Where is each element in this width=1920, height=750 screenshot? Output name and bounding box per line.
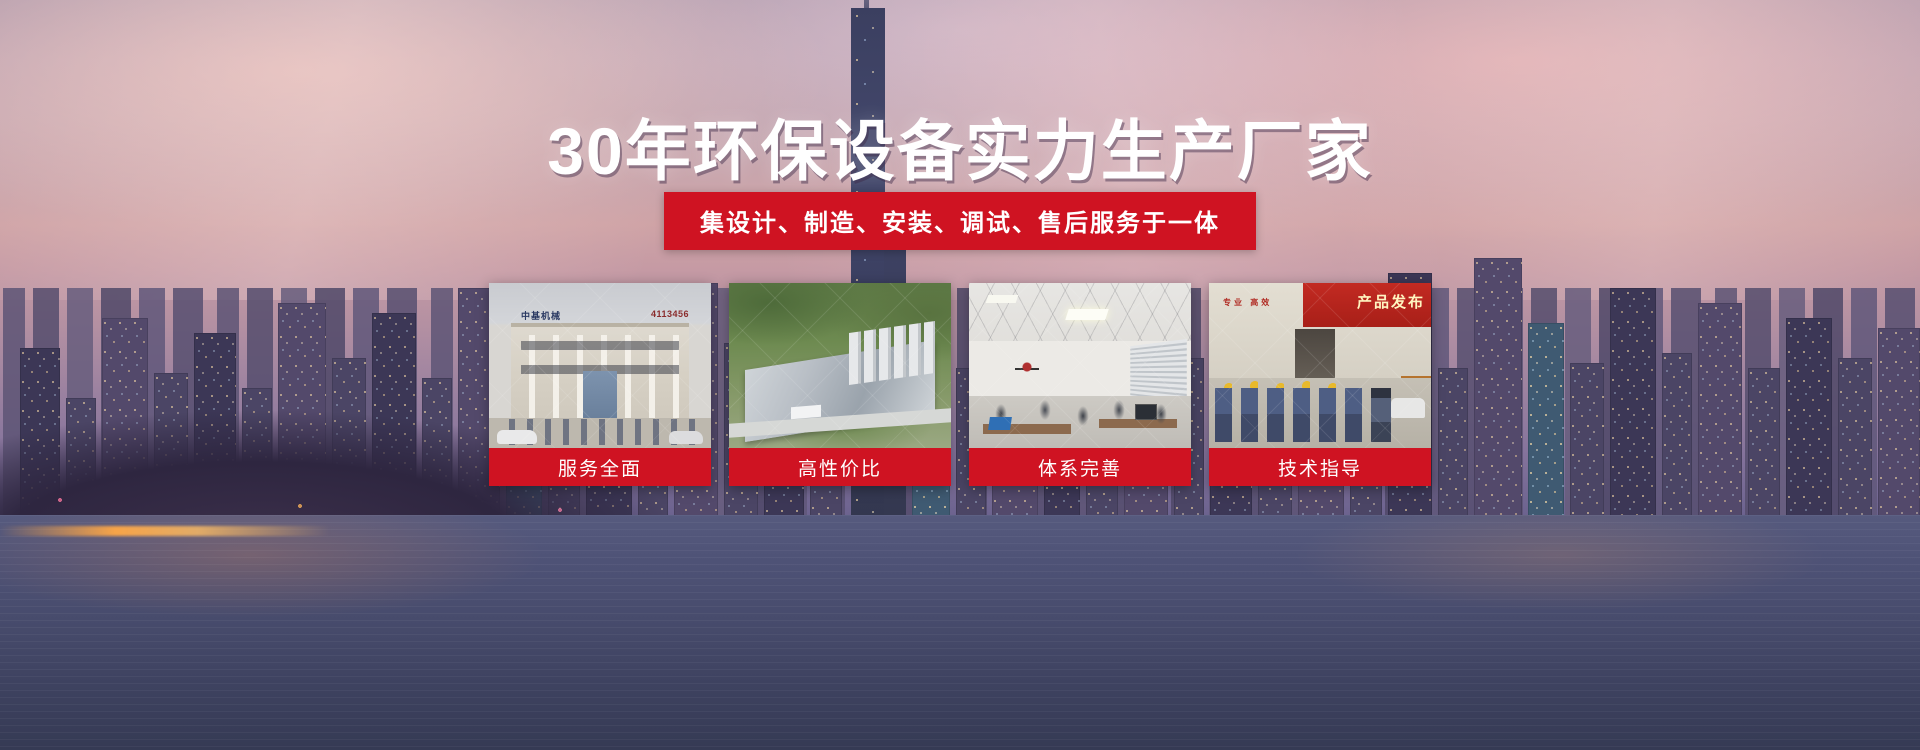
banner-headline: 30年环保设备实力生产厂家 [0, 98, 1920, 194]
parked-car [669, 431, 703, 444]
feature-card-label: 高性价比 [729, 448, 951, 486]
feature-card-label: 服务全面 [489, 448, 711, 486]
office-interior-photo [969, 283, 1191, 448]
building-sign-text: 中基机械 [521, 309, 561, 322]
ceiling-light [986, 295, 1019, 303]
feature-card[interactable]: 体系完善 [969, 283, 1191, 486]
parked-van [1391, 398, 1425, 418]
office-building-photo: 中基机械 4113456 [489, 283, 711, 448]
red-banner-text: 产品发布 [1357, 291, 1425, 312]
feature-card[interactable]: 高性价比 [729, 283, 951, 486]
subtitle-row: 集设计、制造、安装、调试、售后服务于一体 [0, 192, 1920, 250]
building-phone-text: 4113456 [651, 309, 689, 319]
wall-logo-icon [1015, 359, 1039, 379]
workshop-workers-photo: 产品发布 专业 高效 [1209, 283, 1431, 448]
aerial-factory-photo [729, 283, 951, 448]
building-facade [511, 323, 689, 422]
ceiling-light [1065, 309, 1109, 320]
banner-content: 30年环保设备实力生产厂家 集设计、制造、安装、调试、售后服务于一体 中基机械 … [0, 0, 1920, 750]
banner-subtitle: 集设计、制造、安装、调试、售后服务于一体 [664, 192, 1256, 250]
supervisor [1371, 388, 1391, 442]
wall-slogan-text: 专业 高效 [1223, 297, 1272, 308]
desktop-monitor [1135, 404, 1157, 420]
hero-banner: 30年环保设备实力生产厂家 集设计、制造、安装、调试、售后服务于一体 中基机械 … [0, 0, 1920, 750]
feature-card-label: 体系完善 [969, 448, 1191, 486]
feature-card[interactable]: 中基机械 4113456 服务全面 [489, 283, 711, 486]
feature-card[interactable]: 产品发布 专业 高效 技术指导 [1209, 283, 1431, 486]
feature-card-list: 中基机械 4113456 服务全面 [0, 283, 1920, 486]
feature-card-label: 技术指导 [1209, 448, 1431, 486]
parked-car [497, 430, 537, 444]
workers-in-hardhats [1215, 380, 1365, 442]
laptop [988, 417, 1012, 430]
